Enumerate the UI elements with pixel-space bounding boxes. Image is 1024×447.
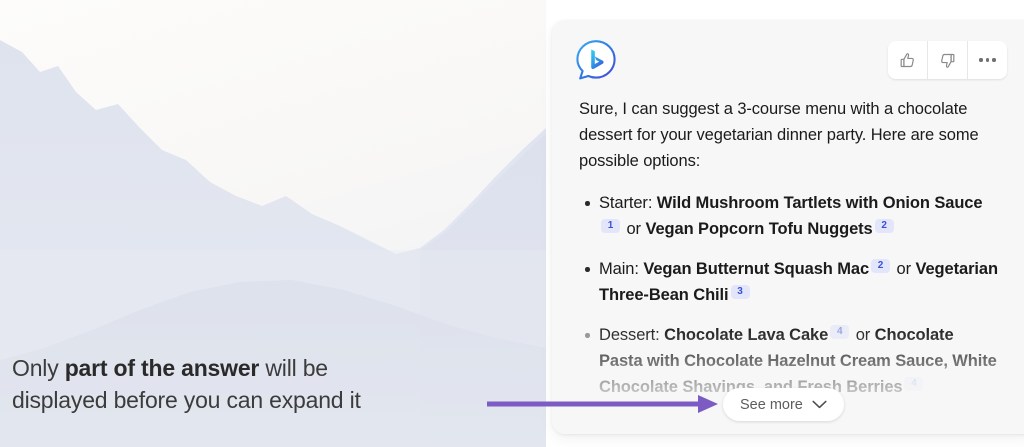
thumbs-up-button[interactable]: [888, 41, 927, 79]
dish-name: Chocolate Lava Cake: [664, 326, 828, 344]
citation-badge[interactable]: 2: [871, 259, 890, 273]
dish-name: Vegan Popcorn Tofu Nuggets: [645, 220, 872, 238]
ellipsis-icon: [979, 58, 995, 61]
dish-name: Wild Mushroom Tartlets with Onion Sauce: [657, 194, 983, 212]
course-label: Main:: [599, 260, 643, 278]
answer-intro-paragraph: Sure, I can suggest a 3-course menu with…: [579, 96, 1007, 174]
card-header: [552, 20, 1024, 96]
bing-chat-logo: [574, 38, 618, 82]
annotation-emphasis: part of the answer: [65, 355, 260, 381]
connector: or: [892, 260, 915, 278]
answer-body: Sure, I can suggest a 3-course menu with…: [552, 96, 1024, 400]
menu-suggestion-list: Starter: Wild Mushroom Tartlets with Oni…: [579, 190, 999, 400]
citation-badge[interactable]: 2: [875, 219, 894, 233]
list-item: Starter: Wild Mushroom Tartlets with Oni…: [579, 190, 999, 242]
citation-badge[interactable]: 3: [731, 285, 750, 299]
screenshot-stage: Sure, I can suggest a 3-course menu with…: [0, 0, 1024, 447]
annotation-line-2: displayed before you can expand it: [12, 384, 482, 416]
chat-answer-card: Sure, I can suggest a 3-course menu with…: [552, 20, 1024, 434]
citation-badge[interactable]: 1: [601, 219, 620, 233]
course-label: Starter:: [599, 194, 657, 212]
connector: or: [851, 326, 874, 344]
thumbs-down-button[interactable]: [928, 41, 967, 79]
annotation-line-1: Only part of the answer will be: [12, 352, 482, 384]
citation-badge[interactable]: 4: [830, 325, 849, 339]
dish-name: Vegan Butternut Squash Mac: [643, 260, 869, 278]
thumbs-up-icon: [898, 51, 917, 70]
see-more-button[interactable]: See more: [723, 388, 844, 421]
see-more-label: See more: [740, 397, 803, 413]
feedback-button-group: [888, 41, 1007, 79]
annotation-text-after: will be: [259, 355, 328, 381]
thumbs-down-icon: [938, 51, 957, 70]
list-item: Main: Vegan Butternut Squash Mac2 or Veg…: [579, 256, 999, 308]
connector: or: [622, 220, 645, 238]
chevron-down-icon: [812, 397, 827, 413]
more-options-button[interactable]: [968, 41, 1007, 79]
annotation-text-before: Only: [12, 355, 65, 381]
citation-badge[interactable]: 4: [904, 377, 923, 391]
course-label: Dessert:: [599, 326, 664, 344]
annotation-caption: Only part of the answer will be displaye…: [12, 352, 482, 416]
